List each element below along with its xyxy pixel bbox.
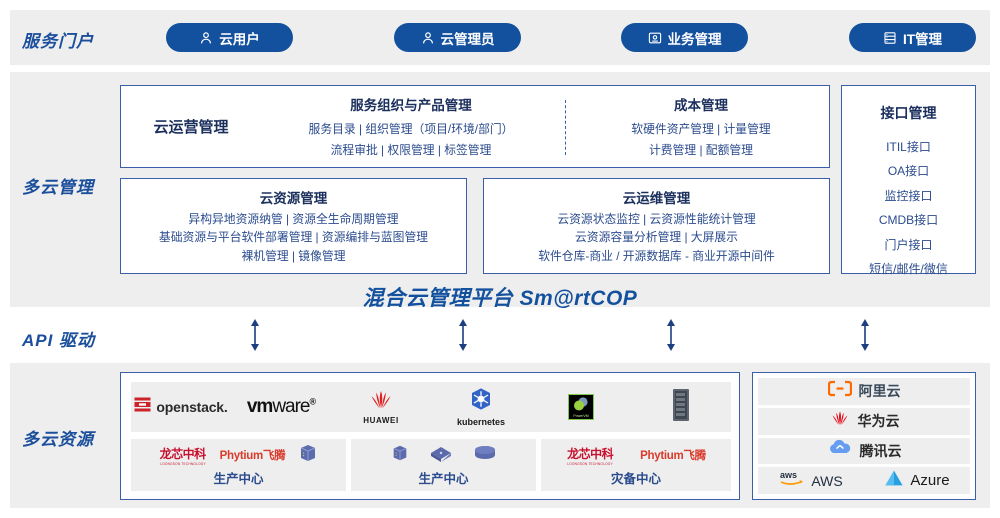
- vendor-vmware[interactable]: vmvmwareware®: [231, 382, 331, 432]
- group-line: 服务目录 | 组织管理（项目/环境/部门）: [309, 120, 514, 138]
- group-line: 计费管理 | 配额管理: [649, 141, 753, 159]
- vendor-openstack[interactable]: openstack.: [131, 382, 231, 432]
- loongson-sublabel: LOONGSON TECHNOLOGY: [160, 462, 206, 466]
- vertical-dashed-divider: [565, 100, 566, 155]
- group-title: 成本管理: [674, 94, 728, 114]
- vendor-server-rack[interactable]: [631, 382, 731, 432]
- bidirectional-arrow-icon: [664, 318, 678, 352]
- public-cloud-label: 华为云: [858, 411, 900, 431]
- portal-pill-cloud-admin[interactable]: 云管理员: [394, 23, 521, 52]
- openstack-icon: [134, 396, 151, 418]
- portal-pill-cloud-user[interactable]: 云用户: [166, 23, 293, 52]
- bidirectional-arrow-icon: [248, 318, 262, 352]
- public-cloud-aws[interactable]: aws AWS: [758, 469, 864, 492]
- interface-item-itil[interactable]: ITIL接口: [886, 136, 931, 159]
- vendor-label-bold: vm: [247, 396, 272, 417]
- user-icon: [421, 31, 435, 45]
- portal-pill-label: 云管理员: [441, 28, 495, 48]
- vendor-label: HUAWEI: [363, 416, 399, 425]
- interface-management-panel: 接口管理 ITIL接口 OA接口 监控接口 CMDB接口 门户接口 短信/邮件/…: [841, 85, 976, 274]
- interface-item-oa[interactable]: OA接口: [888, 160, 929, 183]
- group-line: 云资源容量分析管理 | 大屏展示: [575, 228, 738, 246]
- datacenter-production-primary: 龙芯中科 LOONGSON TECHNOLOGY Phytium飞腾 生产中心: [131, 439, 346, 491]
- user-icon: [199, 31, 213, 45]
- vendor-huawei[interactable]: HUAWEI: [331, 382, 431, 432]
- private-cloud-resources-box: openstack. vmvmwareware®: [120, 372, 740, 500]
- cost-management-group: 成本管理 软硬件资产管理 | 计量管理 计费管理 | 配额管理: [573, 86, 829, 167]
- interface-item-portal[interactable]: 门户接口: [884, 234, 932, 257]
- cloud-resource-management-box: 云资源管理 异构异地资源纳管 | 资源全生命周期管理 基础资源与平台软件部署管理…: [120, 178, 467, 274]
- vendor-label: kubernetes: [457, 417, 505, 427]
- cloud-operation-management-box: 云运营管理 服务组织与产品管理 服务目录 | 组织管理（项目/环境/部门） 流程…: [120, 85, 830, 168]
- group-line: 流程审批 | 权限管理 | 标签管理: [331, 141, 492, 159]
- architecture-diagram: 服务门户 云用户 云管理员 业务管理 IT管理 多云管理 云运营管理 服务组织与…: [0, 0, 1000, 518]
- interface-item-cmdb[interactable]: CMDB接口: [879, 209, 938, 232]
- portal-pill-it-mgmt[interactable]: IT管理: [849, 23, 976, 52]
- svg-text:aws: aws: [780, 470, 797, 480]
- loongson-label: 龙芯中科: [160, 445, 206, 462]
- interface-item-monitoring[interactable]: 监控接口: [884, 185, 932, 208]
- public-cloud-label: 阿里云: [859, 381, 901, 401]
- public-cloud-label: Azure: [910, 472, 949, 489]
- public-cloud-alicloud[interactable]: 阿里云: [758, 378, 970, 405]
- loongson-sublabel: LOONGSON TECHNOLOGY: [567, 462, 613, 466]
- loongson-logo: 龙芯中科 LOONGSON TECHNOLOGY: [159, 445, 207, 466]
- datacenter-production-secondary: 生产中心: [351, 439, 536, 491]
- huaweicloud-icon: [829, 410, 851, 432]
- tencentcloud-icon: [827, 439, 853, 462]
- portal-pill-business-mgmt[interactable]: 业务管理: [621, 23, 748, 52]
- portal-pill-label: 业务管理: [668, 28, 722, 48]
- cloud-operations-maintenance-box: 云运维管理 云资源状态监控 | 云资源性能统计管理 云资源容量分析管理 | 大屏…: [483, 178, 830, 274]
- group-line: 云资源状态监控 | 云资源性能统计管理: [557, 210, 755, 228]
- vendor-powervm[interactable]: PowerVM: [531, 382, 631, 432]
- panel-title: 接口管理: [881, 103, 937, 123]
- public-cloud-tencentcloud[interactable]: 腾讯云: [758, 438, 970, 465]
- row-label-service-portal: 服务门户: [22, 27, 94, 52]
- datacenter-name: 灾备中心: [611, 468, 661, 487]
- datacenter-name: 生产中心: [418, 468, 468, 487]
- row-label-multicloud-management: 多云管理: [22, 173, 94, 198]
- alicloud-icon: [828, 380, 852, 402]
- server-stack-icon: [298, 443, 318, 468]
- vendor-kubernetes[interactable]: kubernetes: [431, 382, 531, 432]
- loongson-label: 龙芯中科: [567, 445, 613, 462]
- server-stack-icon: [391, 444, 409, 467]
- portal-pill-label: 云用户: [219, 28, 260, 48]
- interface-item-sms-mail-wechat[interactable]: 短信/邮件/微信: [869, 258, 948, 281]
- group-title: 服务组织与产品管理: [350, 94, 472, 114]
- switch-icon: [429, 444, 453, 467]
- phytium-label: Phytium飞腾: [640, 447, 706, 463]
- datacenter-name: 生产中心: [213, 468, 263, 487]
- row-label-api-driven: API 驱动: [22, 326, 95, 351]
- bidirectional-arrow-icon: [456, 318, 470, 352]
- vendor-logo-strip: openstack. vmvmwareware®: [131, 382, 731, 432]
- service-product-management-group: 服务组织与产品管理 服务目录 | 组织管理（项目/环境/部门） 流程审批 | 权…: [261, 86, 561, 167]
- datacenter-disaster-recovery: 龙芯中科 LOONGSON TECHNOLOGY Phytium飞腾 灾备中心: [541, 439, 731, 491]
- huawei-flower-icon: [367, 390, 395, 415]
- powervm-icon: PowerVM: [568, 394, 594, 420]
- group-line: 异构异地资源纳管 | 资源全生命周期管理: [188, 210, 398, 228]
- portal-pill-label: IT管理: [903, 28, 942, 48]
- api-driven-band: [10, 314, 990, 356]
- public-cloud-aws-azure-row: aws AWS Azure: [758, 467, 970, 494]
- azure-icon: [884, 469, 904, 492]
- group-title: 云资源管理: [260, 187, 328, 207]
- kubernetes-icon: [469, 387, 493, 416]
- group-line: 软硬件资产管理 | 计量管理: [631, 120, 770, 138]
- aws-icon: aws: [779, 469, 805, 492]
- public-cloud-azure[interactable]: Azure: [864, 469, 970, 492]
- public-cloud-huaweicloud[interactable]: 华为云: [758, 408, 970, 435]
- phytium-label: Phytium飞腾: [220, 447, 286, 463]
- group-line: 基础资源与平台软件部署管理 | 资源编排与蓝图管理: [159, 228, 428, 246]
- loongson-logo: 龙芯中科 LOONGSON TECHNOLOGY: [566, 445, 614, 466]
- vendor-label: openstack.: [156, 399, 227, 415]
- public-cloud-label: AWS: [811, 473, 842, 489]
- server-icon: [883, 31, 897, 45]
- business-icon: [648, 31, 662, 45]
- group-line: 裸机管理 | 镜像管理: [242, 247, 346, 265]
- platform-name: 混合云管理平台 Sm@rtCOP: [0, 282, 1000, 312]
- public-cloud-label: 腾讯云: [860, 441, 902, 461]
- row-label-multicloud-resources: 多云资源: [22, 425, 94, 450]
- group-title: 云运维管理: [623, 187, 691, 207]
- powervm-label: PowerVM: [569, 414, 593, 418]
- datacenter-strip: 龙芯中科 LOONGSON TECHNOLOGY Phytium飞腾 生产中心: [131, 439, 731, 491]
- server-rack-icon: [672, 388, 690, 427]
- bidirectional-arrow-icon: [858, 318, 872, 352]
- storage-icon: [473, 445, 497, 466]
- public-cloud-resources-box: 阿里云 华为云 腾讯云 aws AWS: [752, 372, 976, 500]
- group-line: 软件仓库-商业 / 开源数据库 - 商业开源中间件: [538, 247, 775, 265]
- cloud-operation-management-label: 云运营管理: [121, 86, 261, 167]
